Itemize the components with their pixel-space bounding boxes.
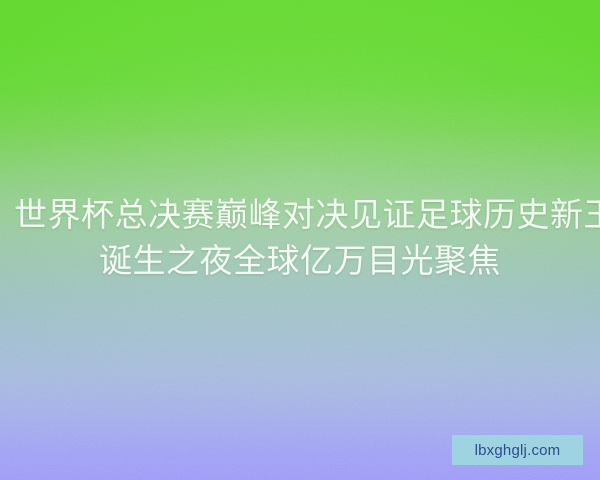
watermark-badge: lbxghglj.com [452, 435, 583, 465]
watermark-text: lbxghglj.com [475, 443, 561, 458]
banner-image: 世界杯总决赛巅峰对决见证足球历史新王 诞生之夜全球亿万目光聚焦 lbxghglj… [0, 0, 600, 480]
background-gradient [0, 0, 600, 480]
